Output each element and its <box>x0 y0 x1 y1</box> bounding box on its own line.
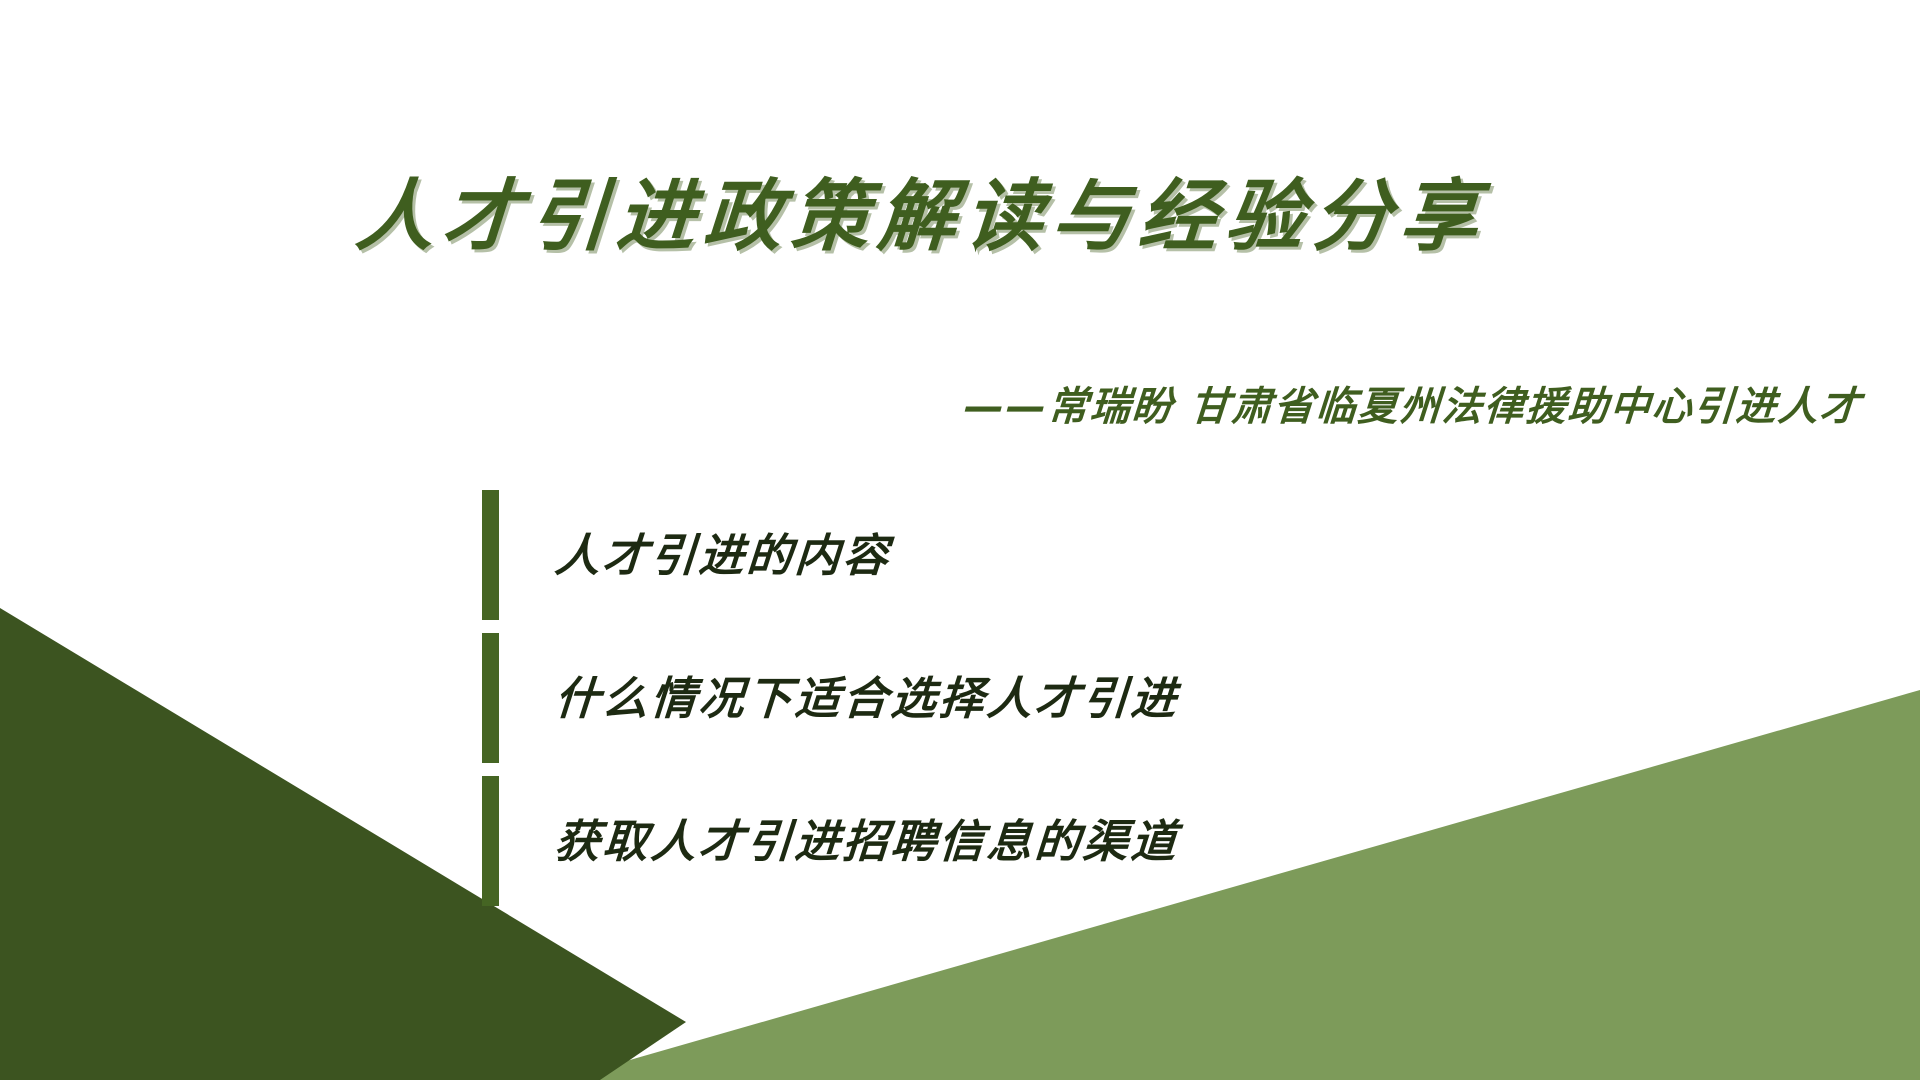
list-item-label: 获取人才引进招聘信息的渠道 <box>553 819 1180 864</box>
presentation-slide: 人才引进政策解读与经验分享 ——常瑞盼 甘肃省临夏州法律援助中心引进人才 人才引… <box>0 0 1920 1080</box>
list-item: 什么情况下适合选择人才引进 <box>482 633 1179 763</box>
slide-subtitle: ——常瑞盼 甘肃省临夏州法律援助中心引进人才 <box>964 386 1862 428</box>
slide-title: 人才引进政策解读与经验分享 <box>0 178 1920 256</box>
list-item-label: 什么情况下适合选择人才引进 <box>553 676 1180 721</box>
dark-green-triangle-foot <box>0 1020 686 1080</box>
list-item: 人才引进的内容 <box>482 490 1179 620</box>
accent-bar-icon <box>482 633 499 763</box>
slide-title-text: 人才引进政策解读与经验分享 <box>354 178 1490 256</box>
slide-subtitle-text: ——常瑞盼 甘肃省临夏州法律援助中心引进人才 <box>963 386 1864 428</box>
accent-bar-icon <box>482 776 499 906</box>
agenda-list: 人才引进的内容 什么情况下适合选择人才引进 获取人才引进招聘信息的渠道 <box>482 490 1179 906</box>
list-item-label: 人才引进的内容 <box>553 533 892 578</box>
accent-bar-icon <box>482 490 499 620</box>
list-item: 获取人才引进招聘信息的渠道 <box>482 776 1179 906</box>
